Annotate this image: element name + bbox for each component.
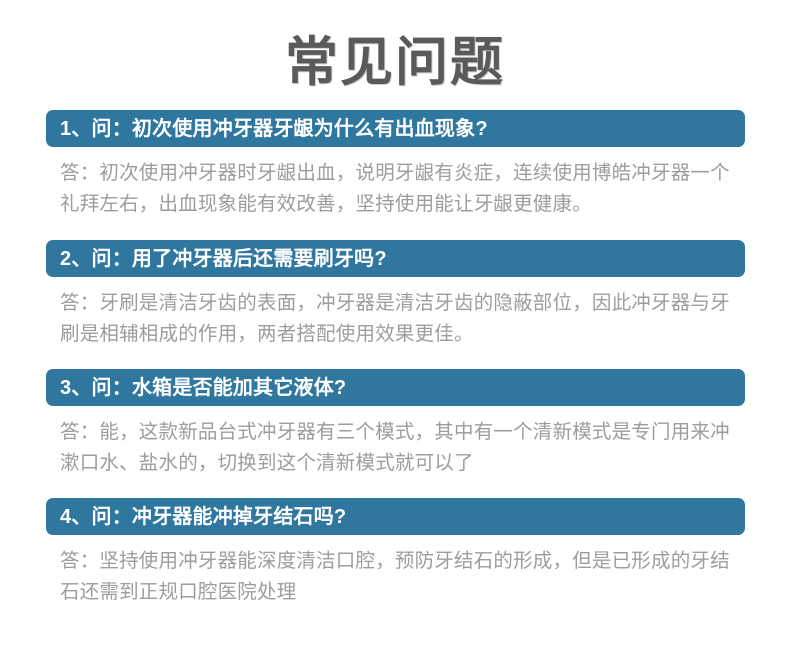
faq-item: 1、问：初次使用冲牙器牙龈为什么有出血现象? 答：初次使用冲牙器时牙龈出血，说明…: [0, 110, 790, 220]
faq-question-bar[interactable]: 3、问：水箱是否能加其它液体?: [46, 369, 745, 406]
faq-question-text: 4、问：冲牙器能冲掉牙结石吗?: [60, 506, 346, 528]
faq-question-text: 1、问：初次使用冲牙器牙龈为什么有出血现象?: [60, 118, 488, 140]
faq-answer-text: 答：能，这款新品台式冲牙器有三个模式，其中有一个清新模式是专门用来冲漱口水、盐水…: [60, 417, 744, 479]
faq-question-bar[interactable]: 4、问：冲牙器能冲掉牙结石吗?: [46, 498, 745, 535]
faq-answer-text: 答：牙刷是清洁牙齿的表面，冲牙器是清洁牙齿的隐蔽部位，因此冲牙器与牙刷是相辅相成…: [60, 288, 744, 350]
faq-question-bar[interactable]: 1、问：初次使用冲牙器牙龈为什么有出血现象?: [46, 110, 745, 147]
page-title: 常见问题: [0, 0, 790, 94]
faq-list: 1、问：初次使用冲牙器牙龈为什么有出血现象? 答：初次使用冲牙器时牙龈出血，说明…: [0, 110, 790, 608]
faq-answer-text: 答：初次使用冲牙器时牙龈出血，说明牙龈有炎症，连续使用博皓冲牙器一个礼拜左右，出…: [60, 158, 744, 220]
faq-item: 2、问：用了冲牙器后还需要刷牙吗? 答：牙刷是清洁牙齿的表面，冲牙器是清洁牙齿的…: [0, 240, 790, 350]
faq-item: 4、问：冲牙器能冲掉牙结石吗? 答：坚持使用冲牙器能深度清洁口腔，预防牙结石的形…: [0, 498, 790, 608]
faq-question-text: 2、问：用了冲牙器后还需要刷牙吗?: [60, 248, 387, 270]
faq-page: 常见问题 1、问：初次使用冲牙器牙龈为什么有出血现象? 答：初次使用冲牙器时牙龈…: [0, 0, 790, 659]
faq-item: 3、问：水箱是否能加其它液体? 答：能，这款新品台式冲牙器有三个模式，其中有一个…: [0, 369, 790, 479]
faq-question-bar[interactable]: 2、问：用了冲牙器后还需要刷牙吗?: [46, 240, 745, 277]
faq-question-text: 3、问：水箱是否能加其它液体?: [60, 377, 346, 399]
faq-answer-text: 答：坚持使用冲牙器能深度清洁口腔，预防牙结石的形成，但是已形成的牙结石还需到正规…: [60, 546, 744, 608]
